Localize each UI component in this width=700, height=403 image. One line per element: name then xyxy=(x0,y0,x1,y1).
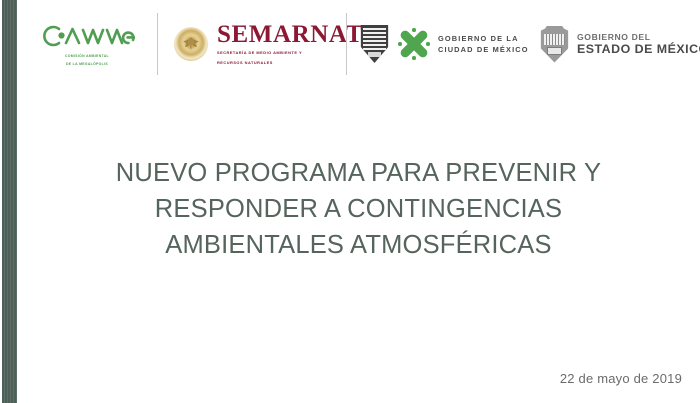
mexican-eagle-seal-icon xyxy=(174,27,208,61)
came-wordmark-icon xyxy=(39,21,135,51)
logo-semarnat: SEMARNAT SECRETARÍA DE MEDIO AMBIENTE Y … xyxy=(158,8,346,80)
edomex-text: GOBIERNO DEL ESTADO DE MÉXICO xyxy=(577,32,700,57)
cdmx-text: GOBIERNO DE LA CIUDAD DE MÉXICO xyxy=(438,34,529,54)
semarnat-wordmark: SEMARNAT xyxy=(217,22,363,47)
logo-cdmx: GOBIERNO DE LA CIUDAD DE MÉXICO xyxy=(347,8,525,80)
semarnat-text: SEMARNAT SECRETARÍA DE MEDIO AMBIENTE Y … xyxy=(217,22,363,66)
logo-came: COMISIÓN AMBIENTAL DE LA MEGALÓPOLIS xyxy=(17,8,157,80)
title-line-1: NUEVO PROGRAMA PARA PREVENIR Y xyxy=(17,155,700,191)
logo-strip: COMISIÓN AMBIENTAL DE LA MEGALÓPOLIS SEM… xyxy=(17,0,700,88)
edomex-shield-crest-icon xyxy=(539,26,570,63)
presentation-slide: COMISIÓN AMBIENTAL DE LA MEGALÓPOLIS SEM… xyxy=(0,0,700,403)
logo-estado-de-mexico: GOBIERNO DEL ESTADO DE MÉXICO xyxy=(525,8,690,80)
slide-date: 22 de mayo de 2019 xyxy=(560,371,682,386)
cdmx-shield-crest-icon xyxy=(359,25,390,63)
title-line-2: RESPONDER A CONTINGENCIAS xyxy=(17,191,700,227)
page-title: NUEVO PROGRAMA PARA PREVENIR Y RESPONDER… xyxy=(17,155,700,264)
came-tagline: COMISIÓN AMBIENTAL DE LA MEGALÓPOLIS xyxy=(65,51,109,67)
title-line-3: AMBIENTALES ATMOSFÉRICAS xyxy=(17,227,700,263)
cdmx-knot-icon xyxy=(397,27,431,61)
left-accent-bar xyxy=(2,0,17,403)
